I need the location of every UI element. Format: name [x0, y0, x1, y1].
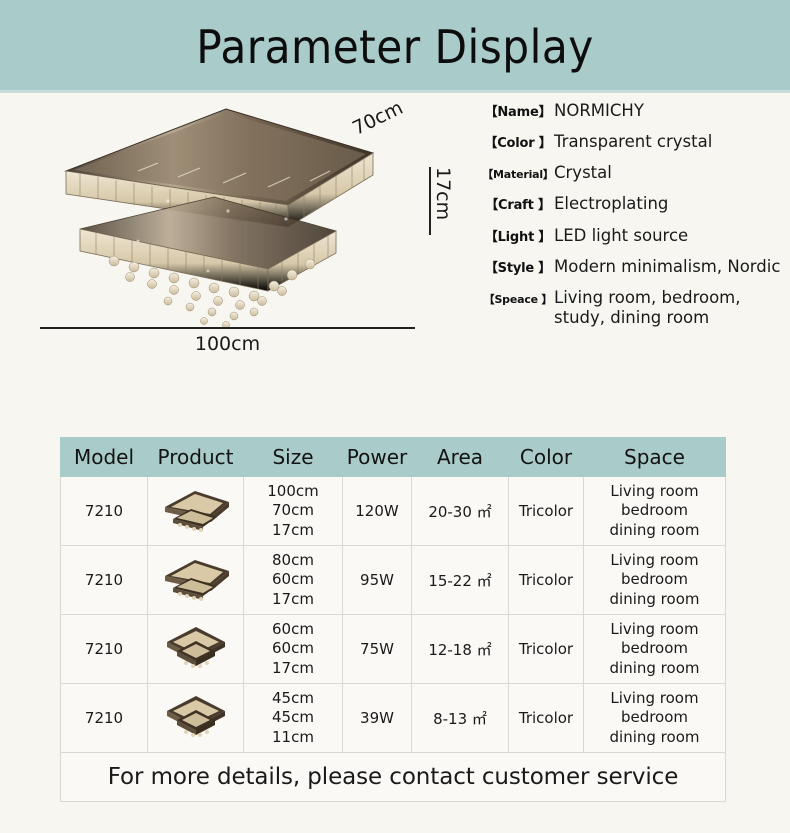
column-header-color: Color — [509, 438, 584, 477]
product-thumbnail-image — [153, 623, 239, 675]
cell-model: 7210 — [61, 477, 148, 546]
width-dimension-line — [40, 327, 415, 329]
spec-value-light: LED light source — [554, 226, 688, 247]
product-thumbnail-image — [153, 692, 239, 744]
spec-label-name: 【Name】 — [482, 101, 554, 120]
cell-color: Tricolor — [509, 684, 584, 753]
table-body: 7210 100cm70cm17cm120W20-30 ㎡TricolorLiv… — [61, 477, 726, 802]
specification-list: 【Name】 NORMICHY 【Color 】 Transparent cry… — [482, 101, 782, 340]
spec-row-color: 【Color 】 Transparent crystal — [482, 132, 782, 153]
spec-value-style: Modern minimalism, Nordic — [554, 257, 780, 278]
cell-color: Tricolor — [509, 546, 584, 615]
column-header-model: Model — [61, 438, 148, 477]
product-figure: 100cm 70cm 17cm — [0, 93, 470, 413]
spec-label-style: 【Style 】 — [482, 257, 554, 276]
page-title: Parameter Display — [196, 20, 593, 74]
cell-area: 15-22 ㎡ — [412, 546, 509, 615]
product-thumbnail-image — [153, 487, 239, 535]
column-header-area: Area — [412, 438, 509, 477]
spec-value-color: Transparent crystal — [554, 132, 712, 153]
table-header-row: Model Product Size Power Area Color Spac… — [61, 438, 726, 477]
height-dimension-label: 17cm — [433, 167, 452, 220]
column-header-product: Product — [148, 438, 244, 477]
spec-value-space: Living room, bedroom, study, dining room — [554, 288, 741, 329]
table-row: 7210 80cm60cm17cm95W15-22 ㎡TricolorLivin… — [61, 546, 726, 615]
cell-size: 60cm60cm17cm — [244, 615, 343, 684]
cell-power: 95W — [343, 546, 412, 615]
spec-row-space: 【Speace 】 Living room, bedroom, study, d… — [482, 288, 782, 329]
cell-space: Living roombedroomdining room — [584, 477, 726, 546]
cell-product-thumbnail — [148, 477, 244, 546]
spec-row-style: 【Style 】 Modern minimalism, Nordic — [482, 257, 782, 278]
product-overview-section: 100cm 70cm 17cm 【Name】 NORMICHY 【Color 】… — [0, 93, 790, 413]
spec-value-material: Crystal — [554, 163, 612, 184]
spec-value-craft: Electroplating — [554, 194, 668, 215]
cell-model: 7210 — [61, 684, 148, 753]
cell-area: 20-30 ㎡ — [412, 477, 509, 546]
contact-service-note: For more details, please contact custome… — [61, 753, 726, 802]
spec-label-space: 【Speace 】 — [482, 291, 554, 307]
cell-model: 7210 — [61, 546, 148, 615]
column-header-power: Power — [343, 438, 412, 477]
specification-table: Model Product Size Power Area Color Spac… — [60, 437, 726, 802]
crystal-ceiling-lamp-illustration — [18, 101, 428, 336]
cell-space: Living roombedroomdining room — [584, 684, 726, 753]
cell-color: Tricolor — [509, 477, 584, 546]
cell-space: Living roombedroomdining room — [584, 615, 726, 684]
spec-label-light: 【Light 】 — [482, 226, 554, 245]
column-header-size: Size — [244, 438, 343, 477]
table-row: 7210 60cm60cm17cm75W12-18 ㎡TricolorLivin… — [61, 615, 726, 684]
cell-size: 45cm45cm11cm — [244, 684, 343, 753]
cell-area: 8-13 ㎡ — [412, 684, 509, 753]
cell-power: 120W — [343, 477, 412, 546]
cell-color: Tricolor — [509, 615, 584, 684]
spec-row-material: 【Material】 Crystal — [482, 163, 782, 184]
spec-label-craft: 【Craft 】 — [482, 194, 554, 213]
spec-row-craft: 【Craft 】 Electroplating — [482, 194, 782, 215]
spec-row-light: 【Light 】 LED light source — [482, 226, 782, 247]
spec-label-material: 【Material】 — [482, 166, 554, 182]
width-dimension-label: 100cm — [0, 333, 455, 355]
page-header: Parameter Display — [0, 0, 790, 93]
cell-power: 75W — [343, 615, 412, 684]
cell-size: 80cm60cm17cm — [244, 546, 343, 615]
cell-power: 39W — [343, 684, 412, 753]
spec-value-space-line1: Living room, bedroom, — [554, 288, 741, 307]
product-image — [18, 101, 428, 336]
cell-product-thumbnail — [148, 615, 244, 684]
cell-area: 12-18 ㎡ — [412, 615, 509, 684]
table-row: 7210 45cm45cm11cm39W8-13 ㎡TricolorLiving… — [61, 684, 726, 753]
cell-product-thumbnail — [148, 546, 244, 615]
specification-table-container: Model Product Size Power Area Color Spac… — [60, 437, 725, 802]
spec-value-space-line2: study, dining room — [554, 308, 741, 329]
table-footer-row: For more details, please contact custome… — [61, 753, 726, 802]
product-thumbnail-image — [153, 556, 239, 604]
table-row: 7210 100cm70cm17cm120W20-30 ㎡TricolorLiv… — [61, 477, 726, 546]
spec-value-name: NORMICHY — [554, 101, 644, 122]
spec-row-name: 【Name】 NORMICHY — [482, 101, 782, 122]
cell-space: Living roombedroomdining room — [584, 546, 726, 615]
cell-size: 100cm70cm17cm — [244, 477, 343, 546]
height-dimension: 17cm — [429, 167, 452, 235]
column-header-space: Space — [584, 438, 726, 477]
height-dimension-line — [429, 167, 431, 235]
cell-model: 7210 — [61, 615, 148, 684]
spec-label-color: 【Color 】 — [482, 132, 554, 151]
cell-product-thumbnail — [148, 684, 244, 753]
